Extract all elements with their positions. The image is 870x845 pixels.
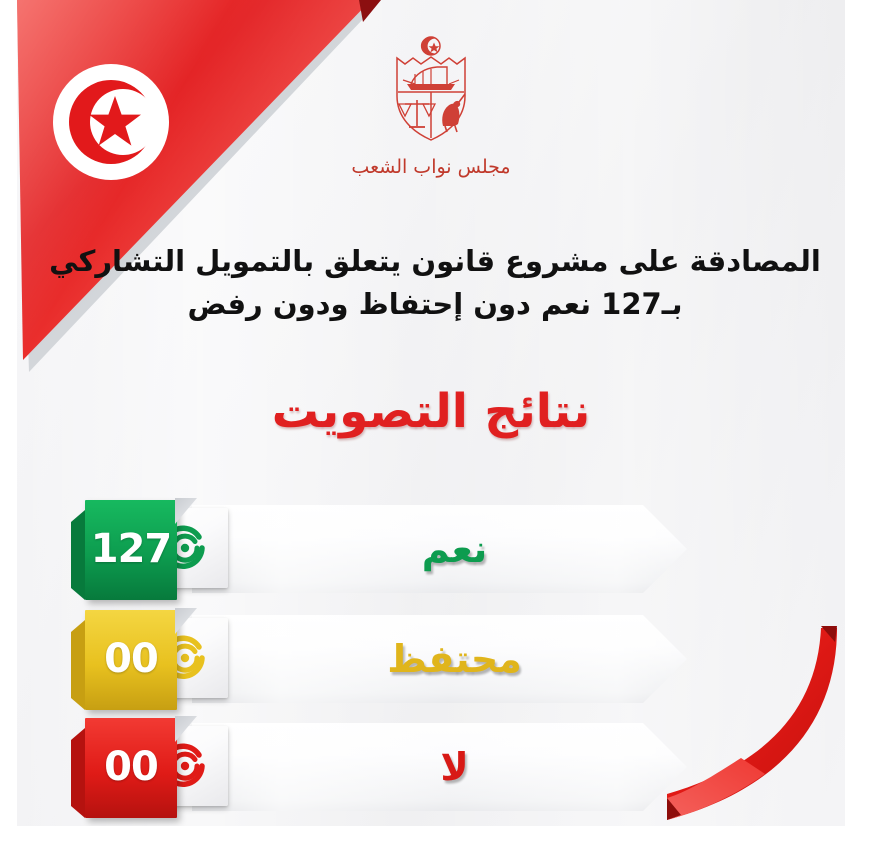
tag-fold-left (71, 620, 85, 710)
result-label-bar: لا (192, 723, 687, 811)
screenshot-root: مجلس نواب الشعب المصادقة على مشروع قانون… (0, 0, 870, 845)
results-card: مجلس نواب الشعب المصادقة على مشروع قانون… (17, 0, 845, 826)
vote-results-list: 127 نعم (17, 500, 845, 820)
result-row: 127 نعم (17, 500, 845, 600)
page-title: نتائج التصويت (17, 386, 845, 438)
result-count: 00 (104, 747, 158, 789)
result-label-bar: نعم (192, 505, 687, 593)
result-label-bar: محتفظ (192, 615, 687, 703)
result-label: محتفظ (357, 640, 521, 678)
result-count-tag: 00 (85, 718, 177, 818)
emblem-caption: مجلس نواب الشعب (351, 156, 510, 178)
tag-fold-left (71, 510, 85, 600)
result-label: نعم (392, 530, 488, 568)
result-count-tag: 00 (85, 610, 177, 710)
tag-fold-left (71, 728, 85, 818)
page-headline: المصادقة على مشروع قانون يتعلق بالتمويل … (39, 240, 831, 326)
result-count: 00 (104, 639, 158, 681)
tunisia-coat-of-arms-icon (385, 34, 477, 150)
result-row: 00 محتفظ (17, 610, 845, 710)
result-count: 127 (91, 529, 172, 571)
result-label: لا (410, 748, 468, 786)
result-count-tag: 127 (85, 500, 177, 600)
result-row: 00 لا (17, 718, 845, 818)
emblem-block: مجلس نواب الشعب (17, 34, 845, 178)
